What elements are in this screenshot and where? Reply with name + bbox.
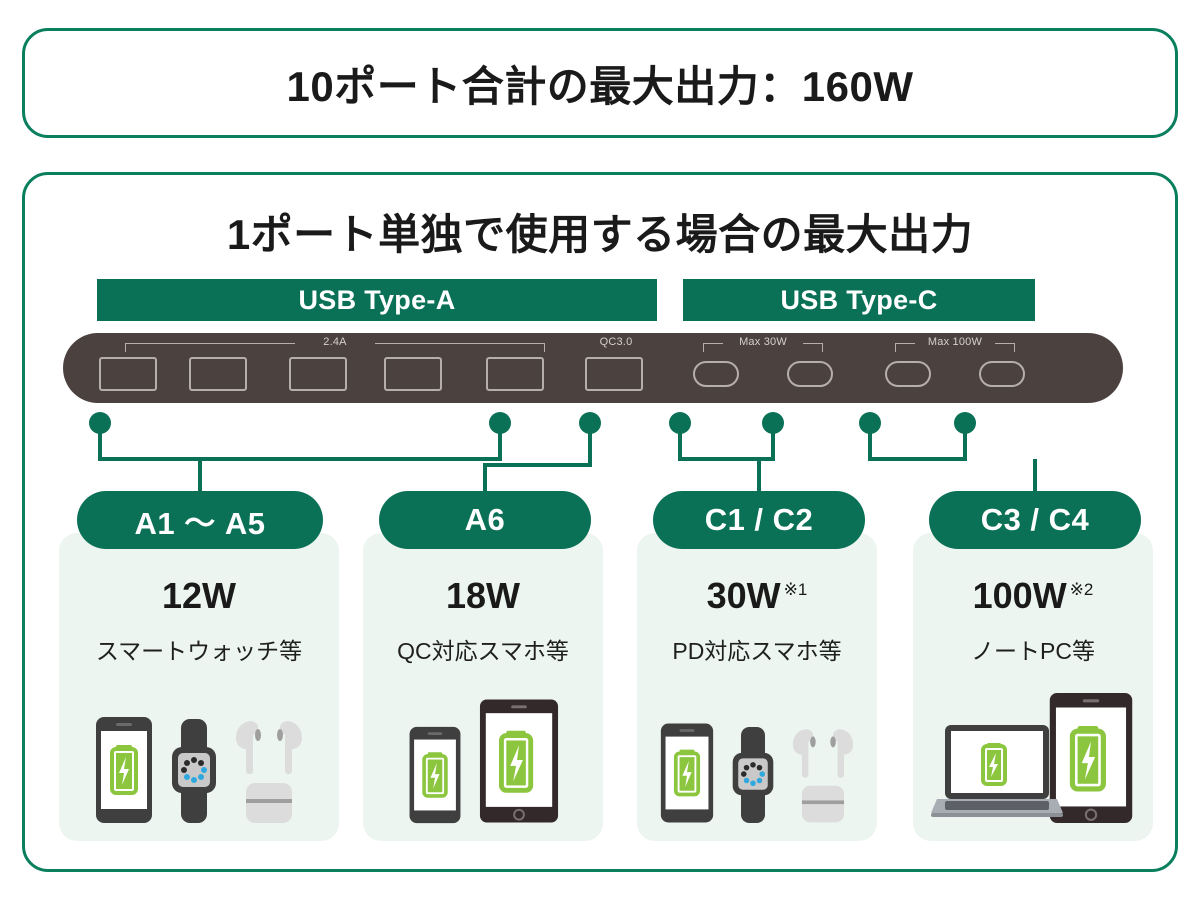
usb-port-a6 — [585, 357, 643, 391]
per-port-panel: 1ポート単独で使用する場合の最大出力 USB Type-A USB Type-C… — [22, 172, 1178, 872]
usb-port-a2 — [189, 357, 247, 391]
total-output-title: 10ポート合計の最大出力：160W — [287, 53, 914, 114]
smartphone-icon — [406, 725, 464, 825]
port-card-a6-pill: A6 — [379, 491, 591, 549]
usb-port-a3 — [289, 357, 347, 391]
usb-port-c2 — [787, 361, 833, 387]
hub-label-qc30: QC3.0 — [576, 336, 656, 348]
port-card-a6-watt: 18W — [363, 575, 603, 617]
hub-label-max-30w: Max 30W — [723, 336, 803, 348]
type-bar-usb-a: USB Type-A — [97, 279, 657, 321]
watt-value: 12W — [162, 575, 236, 616]
total-output-banner: 10ポート合計の最大出力：160W — [22, 28, 1178, 138]
hub-label-2-4a: 2.4A — [295, 336, 375, 348]
earbuds-icon — [791, 721, 855, 825]
usb-port-a5 — [486, 357, 544, 391]
type-bar-usb-a-label: USB Type-A — [298, 285, 455, 316]
port-card-a6-usage: QC対応スマホ等 — [363, 632, 603, 666]
port-card-c3-c4-pill: C3 / C4 — [929, 491, 1141, 549]
port-card-c3-c4-devices — [913, 685, 1153, 825]
earbuds-icon — [234, 713, 304, 825]
hub-label-max-100w: Max 100W — [915, 336, 995, 348]
usb-port-c4 — [979, 361, 1025, 387]
usb-hub-illustration: 2.4A QC3.0 Max 30W Max 100W — [63, 333, 1123, 403]
port-card-a1-a5-devices — [59, 685, 339, 825]
port-card-c3-c4-watt: 100W※2 — [913, 575, 1153, 617]
usb-port-c3 — [885, 361, 931, 387]
port-card-c1-c2-devices — [637, 685, 877, 825]
laptop-icon — [931, 713, 1063, 825]
port-card-c1-c2-watt: 30W※1 — [637, 575, 877, 617]
smartwatch-icon — [729, 725, 777, 825]
usb-port-a1 — [99, 357, 157, 391]
port-card-c1-c2-pill: C1 / C2 — [653, 491, 865, 549]
usb-port-c1 — [693, 361, 739, 387]
watt-value: 100W — [973, 575, 1067, 616]
type-bar-usb-c: USB Type-C — [683, 279, 1035, 321]
port-card-c3-c4-usage: ノートPC等 — [913, 632, 1153, 666]
smartphone-icon — [659, 721, 715, 825]
footnote-marker: ※1 — [784, 580, 808, 599]
port-card-a6-devices — [363, 685, 603, 825]
watt-value: 18W — [446, 575, 520, 616]
smartwatch-icon — [168, 717, 220, 825]
port-card-a1-a5-watt: 12W — [59, 575, 339, 617]
smartphone-icon — [94, 715, 154, 825]
footnote-marker: ※2 — [1070, 580, 1094, 599]
per-port-title: 1ポート単独で使用する場合の最大出力 — [25, 201, 1175, 262]
infographic-root: 10ポート合計の最大出力：160W 1ポート単独で使用する場合の最大出力 USB… — [0, 0, 1200, 900]
port-card-c1-c2-usage: PD対応スマホ等 — [637, 632, 877, 666]
port-card-a1-a5-pill: A1 〜 A5 — [77, 491, 323, 549]
tablet-icon — [478, 697, 560, 825]
type-bar-usb-c-label: USB Type-C — [780, 285, 937, 316]
usb-port-a4 — [384, 357, 442, 391]
watt-value: 30W — [707, 575, 781, 616]
port-card-a1-a5-usage: スマートウォッチ等 — [59, 632, 339, 666]
